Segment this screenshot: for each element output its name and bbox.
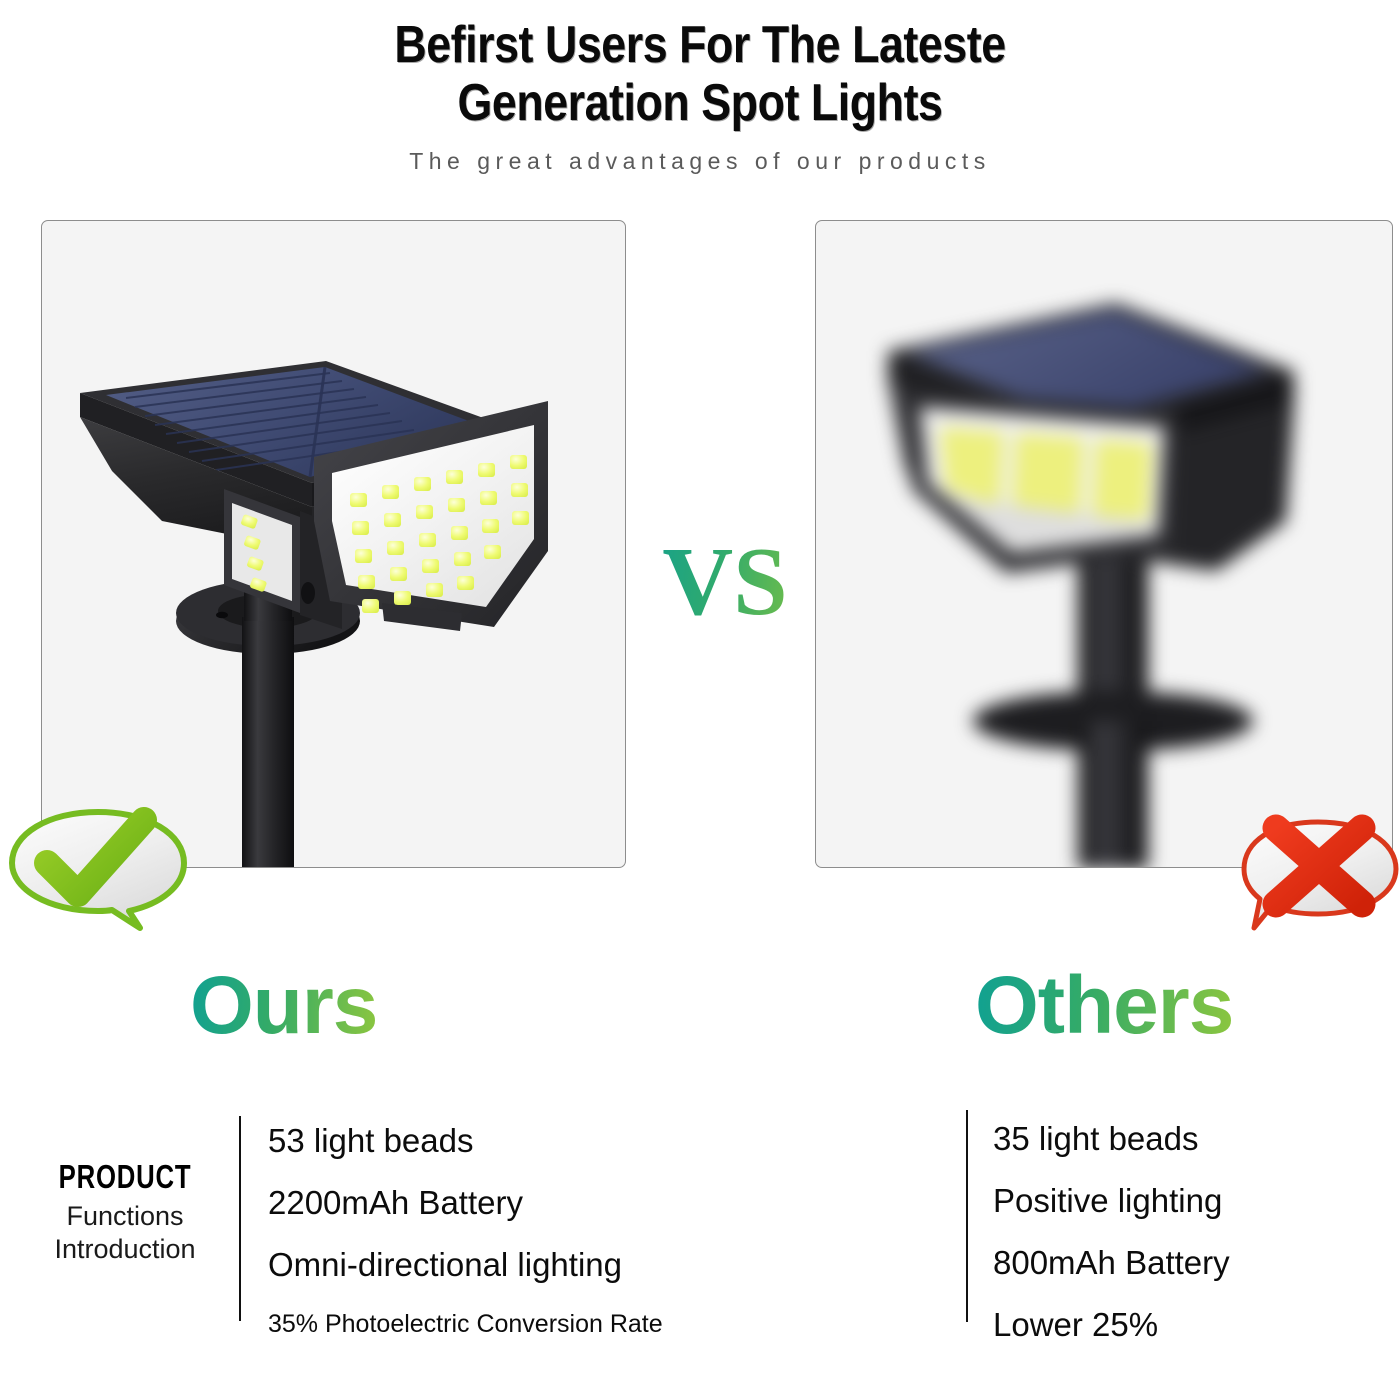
vs-label: VS — [640, 533, 810, 631]
spec-item: 800mAh Battery — [993, 1232, 1393, 1294]
check-badge — [2, 806, 192, 932]
product-label-sub: Functions Introduction — [20, 1200, 230, 1266]
spec-item: 35 light beads — [993, 1108, 1393, 1170]
spec-divider-left — [239, 1116, 241, 1321]
product-functions-label: PRODUCT Functions Introduction — [20, 1160, 230, 1266]
cross-icon — [1240, 800, 1400, 940]
verdict-label-others: Others — [975, 965, 1233, 1047]
spec-item: Omni-directional lighting — [268, 1234, 948, 1296]
solar-spot-light-others-illustration — [816, 221, 1393, 868]
spec-item: Positive lighting — [993, 1170, 1393, 1232]
cross-badge — [1240, 800, 1400, 940]
spec-item: 2200mAh Battery — [268, 1172, 948, 1234]
product-label-main: PRODUCT — [43, 1160, 207, 1194]
header: Befirst Users For The Lateste Generation… — [0, 0, 1400, 175]
verdict-label-ours: Ours — [190, 965, 377, 1047]
spec-list-ours: 53 light beads 2200mAh Battery Omni-dire… — [268, 1110, 948, 1352]
spec-item: 53 light beads — [268, 1110, 948, 1172]
product-image-panel-ours — [41, 220, 626, 868]
page-subtitle: The great advantages of our products — [0, 148, 1400, 175]
spec-divider-right — [966, 1110, 968, 1322]
spec-item: 35% Photoelectric Conversion Rate — [268, 1296, 948, 1352]
product-image-panel-others — [815, 220, 1393, 868]
check-icon — [2, 806, 192, 932]
spec-item: Lower 25% — [993, 1294, 1393, 1356]
infographic-page: Befirst Users For The Lateste Generation… — [0, 0, 1400, 1400]
spec-list-others: 35 light beads Positive lighting 800mAh … — [993, 1108, 1393, 1356]
blur-overlay — [816, 221, 1392, 867]
solar-spot-light-ours-illustration — [42, 221, 626, 868]
page-title: Befirst Users For The Lateste Generation… — [98, 0, 1302, 132]
